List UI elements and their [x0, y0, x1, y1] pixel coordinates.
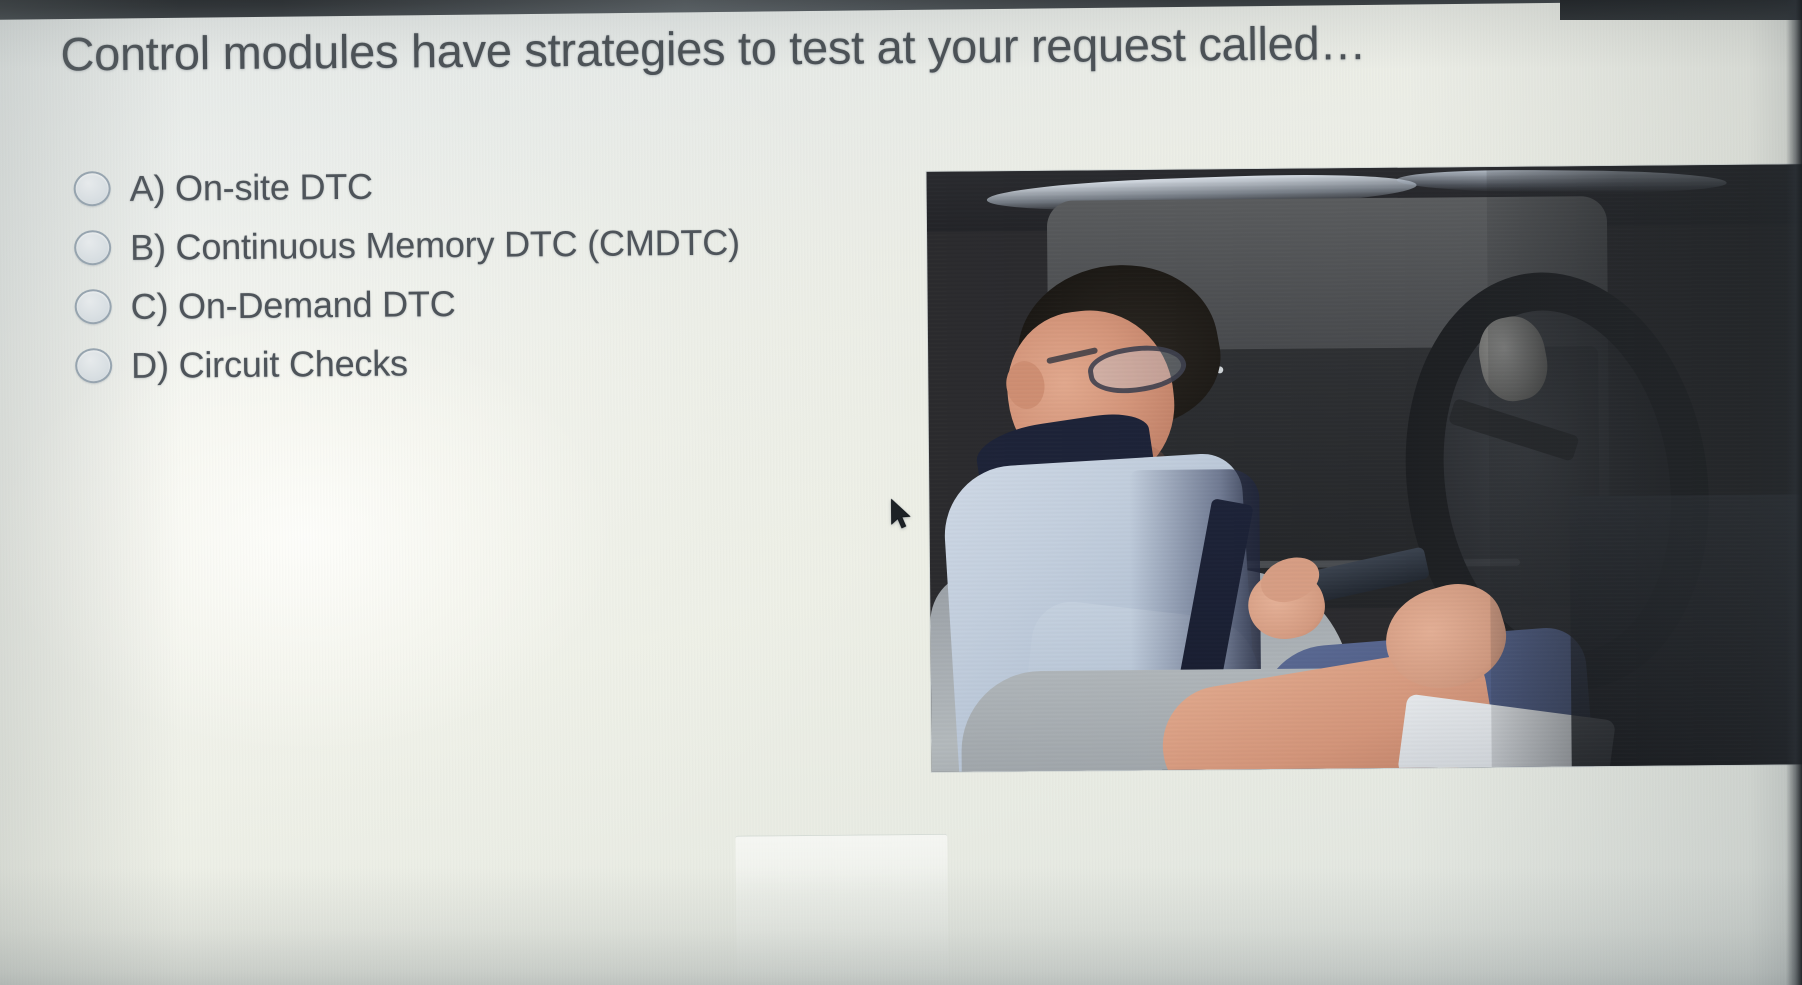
radio-button-a[interactable] — [73, 171, 110, 206]
option-a-label: A) On-site DTC — [129, 165, 373, 209]
radio-button-d[interactable] — [75, 348, 112, 383]
option-c[interactable]: C) On-Demand DTC — [74, 270, 904, 336]
radio-button-c[interactable] — [75, 289, 112, 324]
option-c-label: C) On-Demand DTC — [130, 283, 455, 328]
slide-content: Control modules have strategies to test … — [0, 0, 1802, 985]
option-b[interactable]: B) Continuous Memory DTC (CMDTC) — [74, 211, 904, 277]
option-b-label: B) Continuous Memory DTC (CMDTC) — [130, 221, 740, 268]
option-d[interactable]: D) Circuit Checks — [75, 329, 905, 395]
question-text: Control modules have strategies to test … — [60, 18, 1366, 80]
answer-options-list: A) On-site DTC B) Continuous Memory DTC … — [73, 152, 905, 395]
option-a[interactable]: A) On-site DTC — [73, 152, 903, 218]
radio-button-b[interactable] — [74, 230, 111, 265]
screen-photo: Control modules have strategies to test … — [0, 0, 1802, 985]
technician-photo — [927, 164, 1802, 772]
right-bezel-edge — [1786, 0, 1802, 985]
option-d-label: D) Circuit Checks — [131, 342, 408, 386]
photo-grain-overlay — [927, 164, 1802, 772]
bottom-panel-strip — [735, 834, 948, 982]
mouse-cursor-icon — [889, 498, 913, 532]
